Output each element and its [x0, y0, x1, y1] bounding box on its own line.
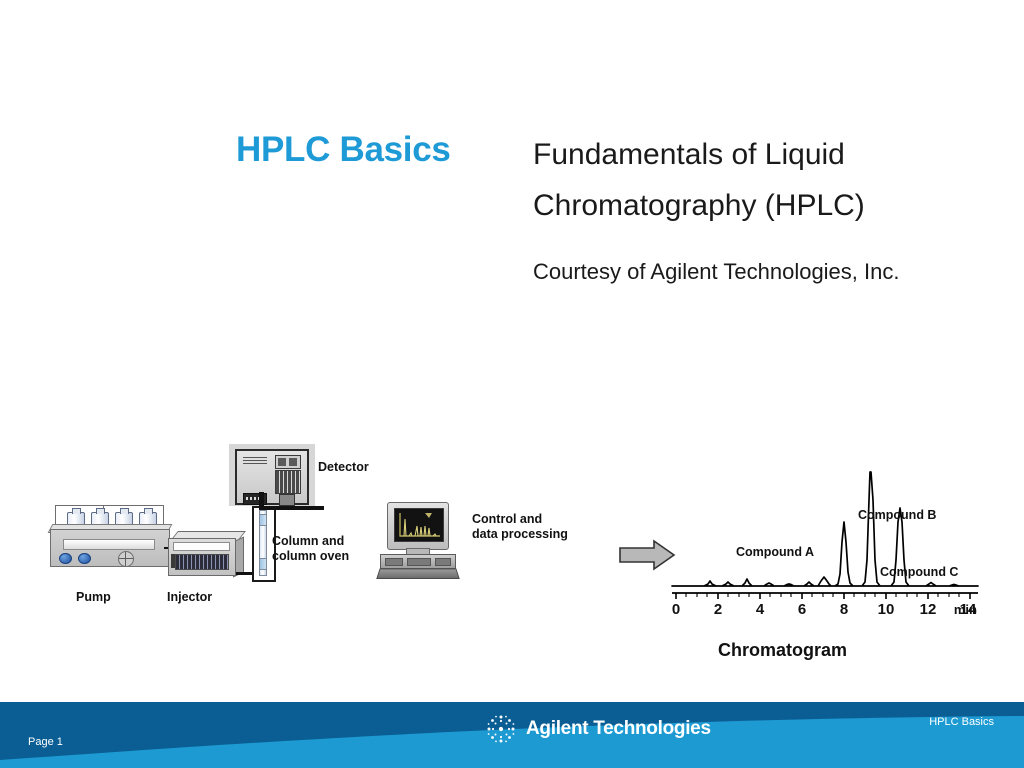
svg-text:8: 8: [840, 601, 848, 618]
page-title: HPLC Basics: [236, 130, 451, 170]
pump-knob-right: [78, 553, 91, 564]
annotation-compound-a: Compound A: [736, 545, 814, 559]
detector-keypad: [275, 470, 301, 494]
courtesy-text: Courtesy of Agilent Technologies, Inc.: [533, 259, 899, 285]
pump-unit-graphic: [45, 505, 173, 565]
injector-vial-tray: [175, 554, 229, 570]
monitor-screen: [394, 508, 444, 542]
chromatogram-caption: Chromatogram: [718, 640, 847, 661]
flow-arrow-icon: [618, 538, 678, 572]
footer-deck-title: HPLC Basics: [929, 716, 994, 728]
label-pump: Pump: [76, 590, 111, 605]
label-control-line2: data processing: [472, 527, 568, 542]
label-column-line1: Column and: [272, 534, 344, 549]
hplc-instrument-diagram: Pump Injector Column and column oven Det…: [0, 430, 1024, 660]
svg-text:12: 12: [920, 601, 937, 618]
cpu-tower: [380, 554, 456, 569]
monitor-body: [387, 502, 449, 550]
column-segment-bottom: [259, 558, 267, 570]
detector-display: [275, 455, 301, 469]
detector-vent-lines: [243, 457, 267, 464]
page-number: Page 1: [28, 736, 63, 748]
label-column-line2: column oven: [272, 549, 349, 564]
injector-unit-graphic: [168, 530, 254, 576]
label-control-line1: Control and: [472, 512, 542, 527]
svg-text:6: 6: [798, 601, 806, 618]
pump-valve: [118, 551, 134, 567]
subtitle-line-2: Chromatography (HPLC): [533, 180, 1003, 231]
slide-footer: Agilent Technologies Page 1 HPLC Basics: [0, 690, 1024, 768]
detector-button: [279, 494, 295, 506]
detector-front-panel: [235, 449, 309, 505]
agilent-brand-lockup: Agilent Technologies: [484, 712, 711, 746]
detector-cable-horizontal: [262, 506, 324, 510]
cpu-drive-bay-3: [435, 558, 451, 566]
screen-chromatogram-icon: [395, 509, 443, 541]
injector-slot: [173, 542, 230, 551]
x-axis-unit-label: min: [954, 602, 977, 617]
computer-workstation-graphic: [378, 502, 456, 578]
cpu-drive-bay-2: [407, 558, 431, 566]
title-area: HPLC Basics Fundamentals of Liquid Chrom…: [0, 0, 1024, 330]
pump-display-slot: [63, 539, 155, 550]
detector-unit-graphic: [229, 444, 315, 514]
label-injector: Injector: [167, 590, 212, 605]
cpu-drive-bay-1: [385, 558, 403, 566]
svg-text:10: 10: [878, 601, 895, 618]
annotation-compound-b: Compound B: [858, 508, 936, 522]
chromatogram-figure: 0 2 4 6 8 10 12 14 min Compound A Compou…: [618, 460, 988, 660]
agilent-starburst-icon: [484, 712, 518, 746]
svg-text:4: 4: [756, 601, 765, 618]
subtitle-line-1: Fundamentals of Liquid: [533, 129, 1003, 180]
x-axis-tick-labels: 0 2 4 6 8 10 12 14: [672, 601, 977, 618]
svg-text:0: 0: [672, 601, 680, 618]
column-segment-top: [259, 514, 267, 526]
chromatogram-plot: 0 2 4 6 8 10 12 14 min: [670, 460, 980, 620]
pump-knob-left: [59, 553, 72, 564]
svg-text:2: 2: [714, 601, 722, 618]
keyboard: [376, 568, 460, 578]
annotation-compound-c: Compound C: [880, 565, 958, 579]
subtitle-block: Fundamentals of Liquid Chromatography (H…: [533, 129, 1003, 231]
agilent-brand-text: Agilent Technologies: [526, 718, 711, 740]
label-detector: Detector: [318, 460, 369, 475]
column-oven-graphic: [252, 506, 274, 578]
